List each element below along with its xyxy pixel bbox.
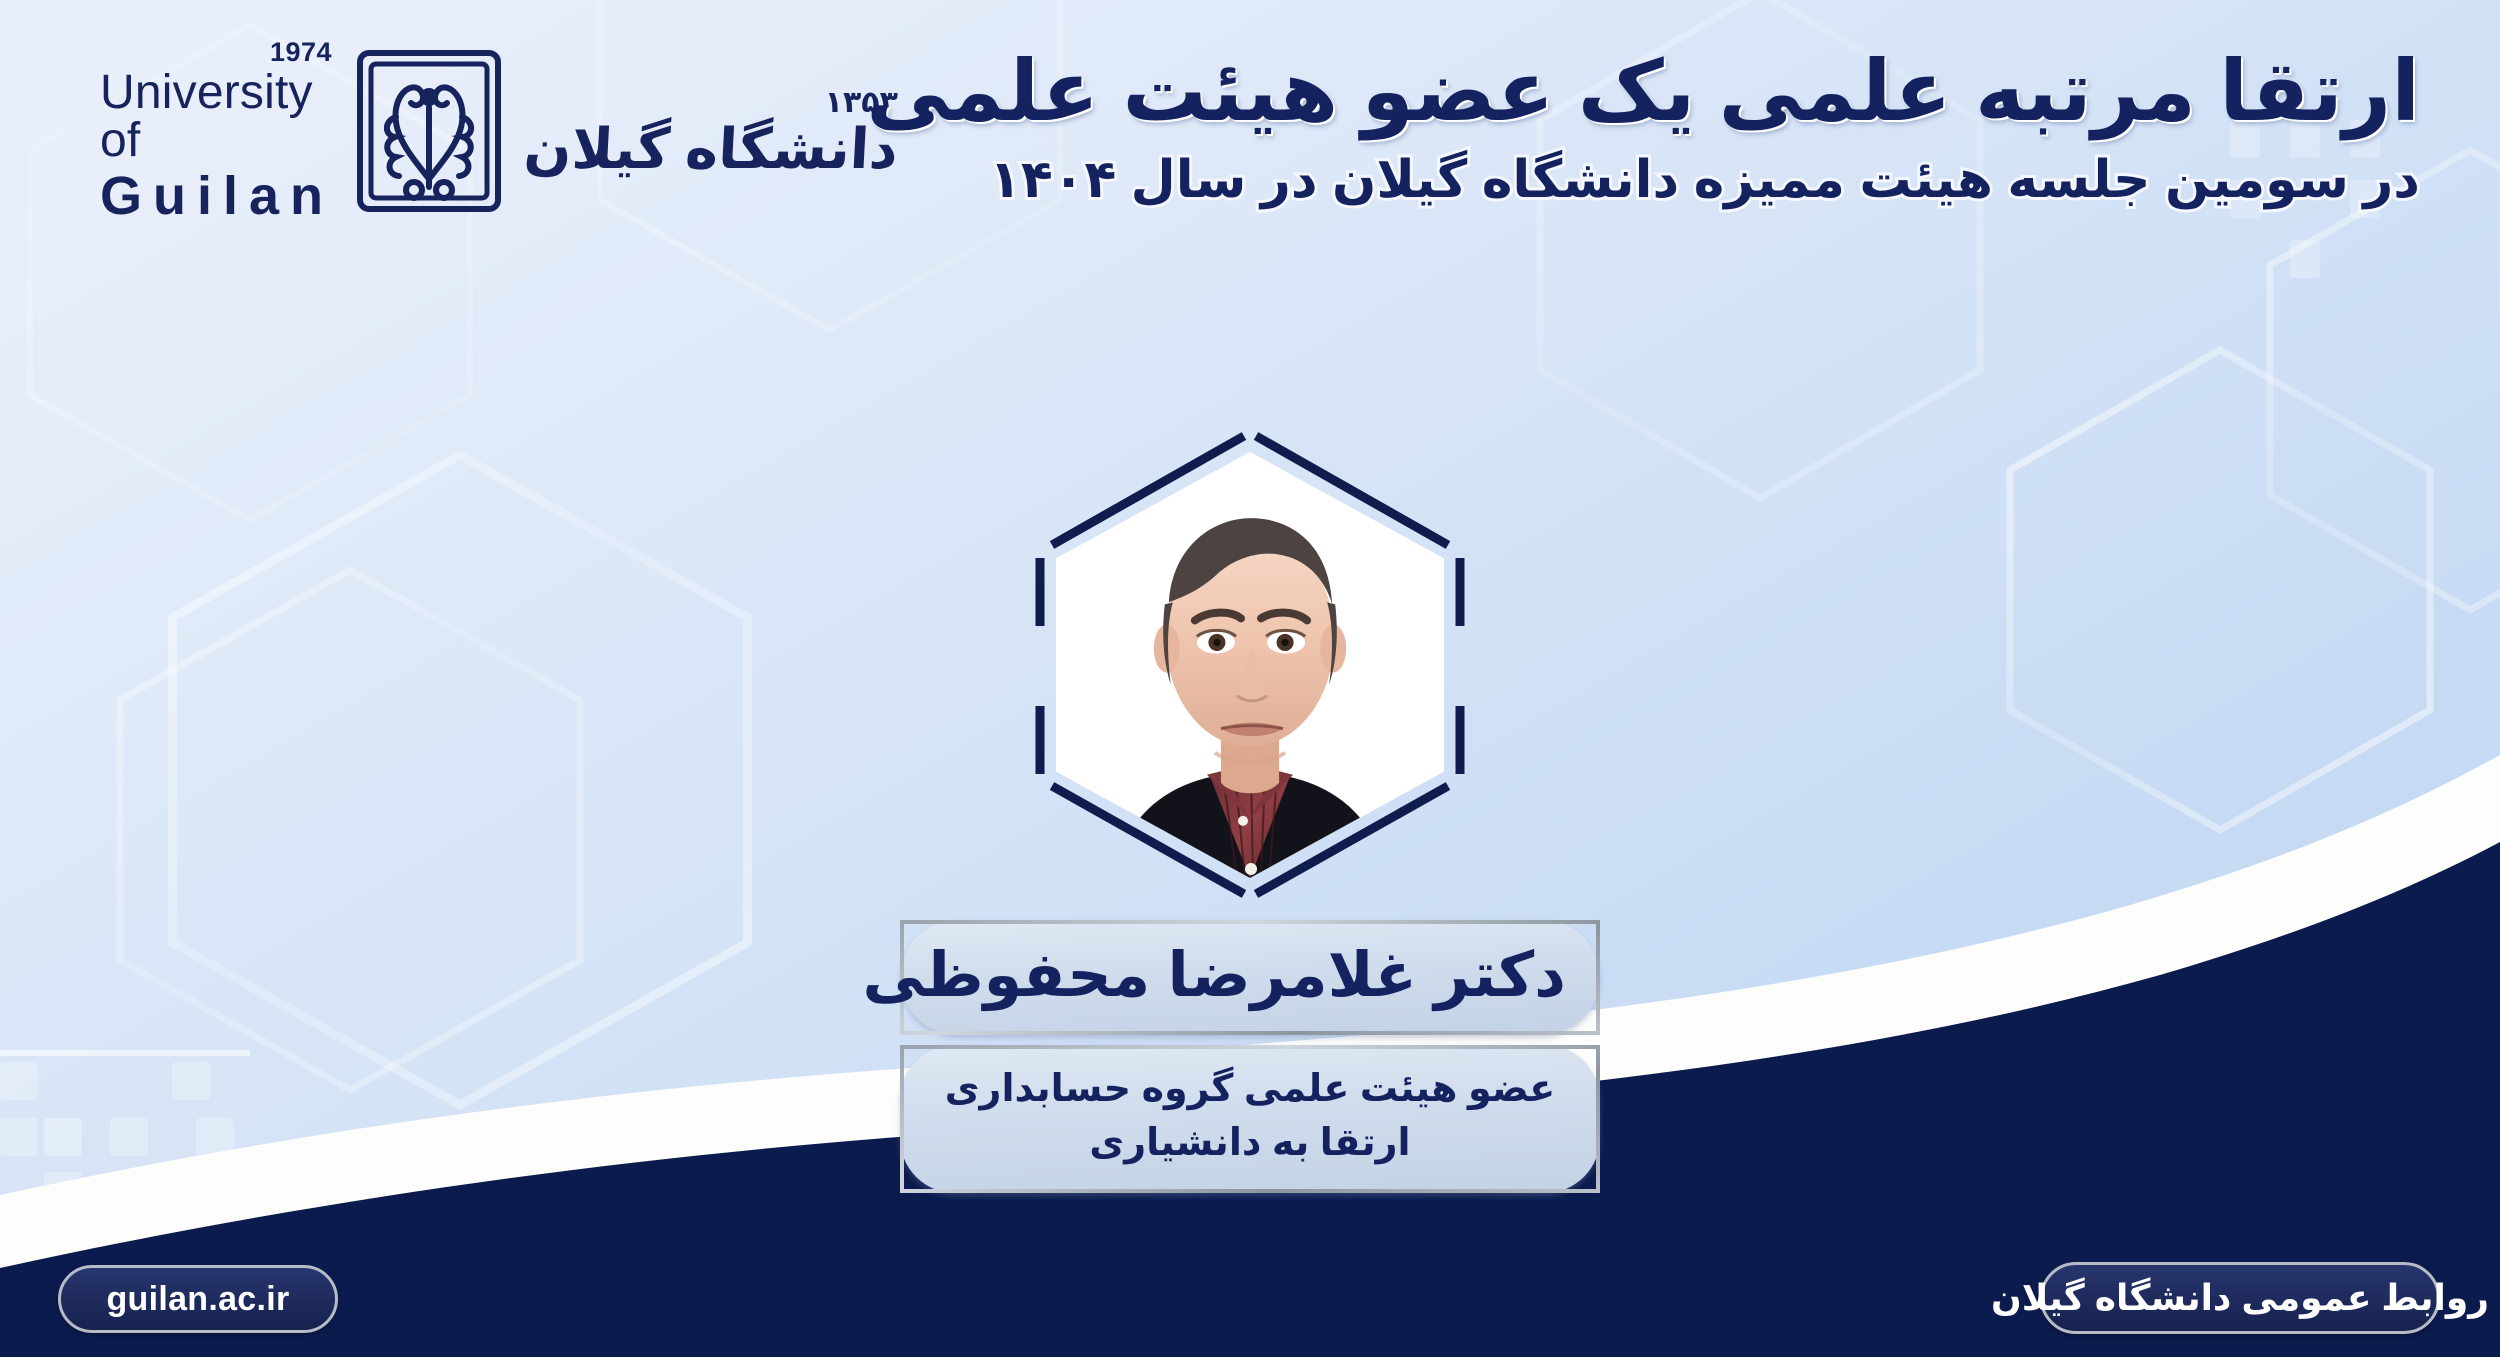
person-role-line-1: عضو هیئت علمی گروه حسابداری xyxy=(934,1063,1566,1117)
logo-university-word: University of xyxy=(100,69,338,165)
poster-canvas: 1974 University of Guilan xyxy=(0,0,2500,1357)
portrait-hexagon xyxy=(1030,430,1470,900)
header-text-block: ارتقا مرتبه علمی یک عضو هیئت علمی در سوم… xyxy=(1080,42,2420,212)
logo-english-text: 1974 University of Guilan xyxy=(100,39,338,227)
person-info-block: دکتر غلامرضا محفوظی عضو هیئت علمی گروه ح… xyxy=(900,920,1600,1193)
logo-guilan-word: Guilan xyxy=(100,169,334,223)
logo-university-name-fa: دانشگاه گیلان xyxy=(522,120,899,179)
person-role-line-2: ارتقا به دانشیاری xyxy=(934,1117,1566,1171)
logo-year-en: 1974 xyxy=(270,39,332,66)
page-title: ارتقا مرتبه علمی یک عضو هیئت علمی xyxy=(1080,42,2420,141)
person-role-badge: عضو هیئت علمی گروه حسابداری ارتقا به دان… xyxy=(900,1045,1600,1193)
logo-persian-text: ۱۳۵۳ دانشگاه گیلان xyxy=(524,88,898,179)
person-name-badge: دکتر غلامرضا محفوظی xyxy=(900,920,1600,1035)
portrait-hexagon-frame xyxy=(1030,430,1470,900)
guilan-university-emblem-icon xyxy=(354,47,504,220)
page-subtitle: در سومین جلسه هیئت ممیزه دانشگاه گیلان د… xyxy=(1080,149,2420,211)
university-logo: 1974 University of Guilan xyxy=(100,48,820,218)
public-relations-pill: روابط عمومی دانشگاه گیلان xyxy=(2040,1262,2440,1334)
website-pill[interactable]: guilan.ac.ir xyxy=(58,1265,338,1333)
pixel-grid-right xyxy=(2152,990,2496,1138)
